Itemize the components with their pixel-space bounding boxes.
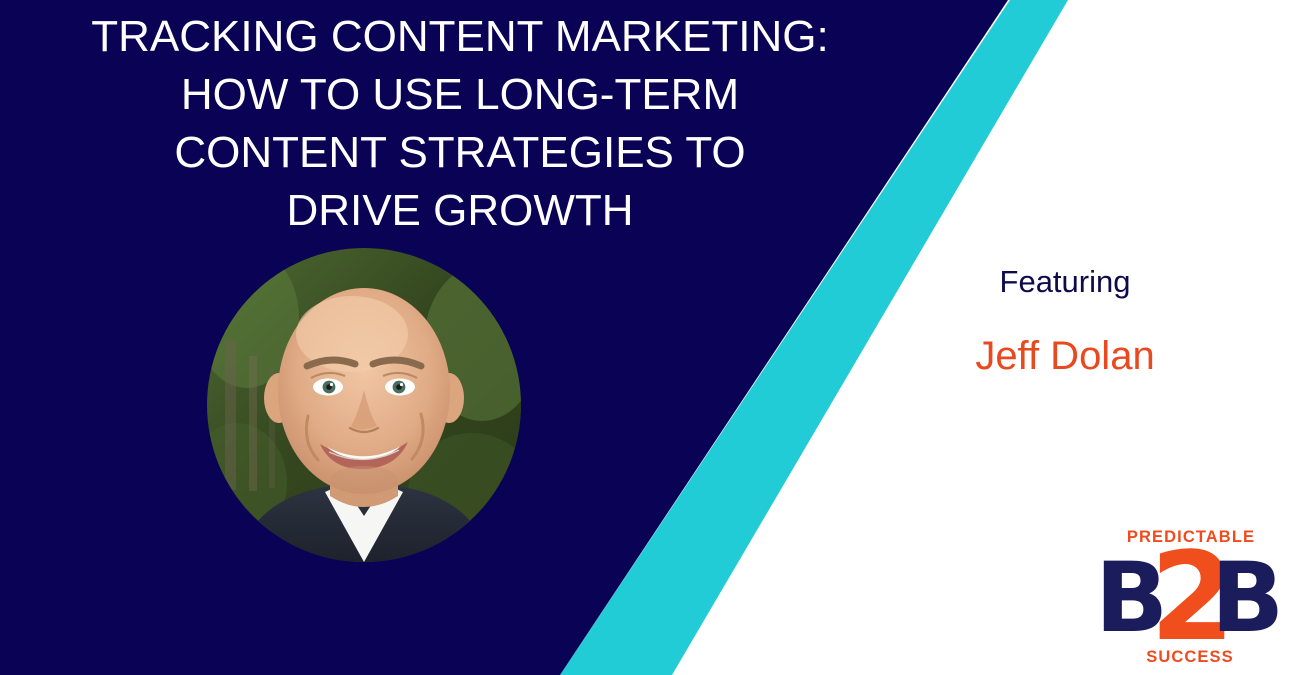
title-line-1: TRACKING CONTENT MARKETING: bbox=[0, 8, 920, 66]
speaker-portrait-avatar bbox=[207, 248, 521, 562]
title-line-4: DRIVE GROWTH bbox=[0, 182, 920, 240]
title-line-3: CONTENT STRATEGIES TO bbox=[0, 124, 920, 182]
slide-canvas: TRACKING CONTENT MARKETING: HOW TO USE L… bbox=[0, 0, 1290, 675]
page-title: TRACKING CONTENT MARKETING: HOW TO USE L… bbox=[0, 8, 920, 240]
title-line-2: HOW TO USE LONG-TERM bbox=[0, 66, 920, 124]
logo-mark-b2b: B 2 B bbox=[1093, 544, 1285, 648]
speaker-name: Jeff Dolan bbox=[905, 332, 1225, 380]
featuring-label: Featuring bbox=[905, 263, 1225, 301]
logo-letter-b-right: B bbox=[1211, 550, 1284, 646]
brand-logo[interactable]: PREDICTABLE B 2 B SUCCESS bbox=[1093, 528, 1285, 673]
